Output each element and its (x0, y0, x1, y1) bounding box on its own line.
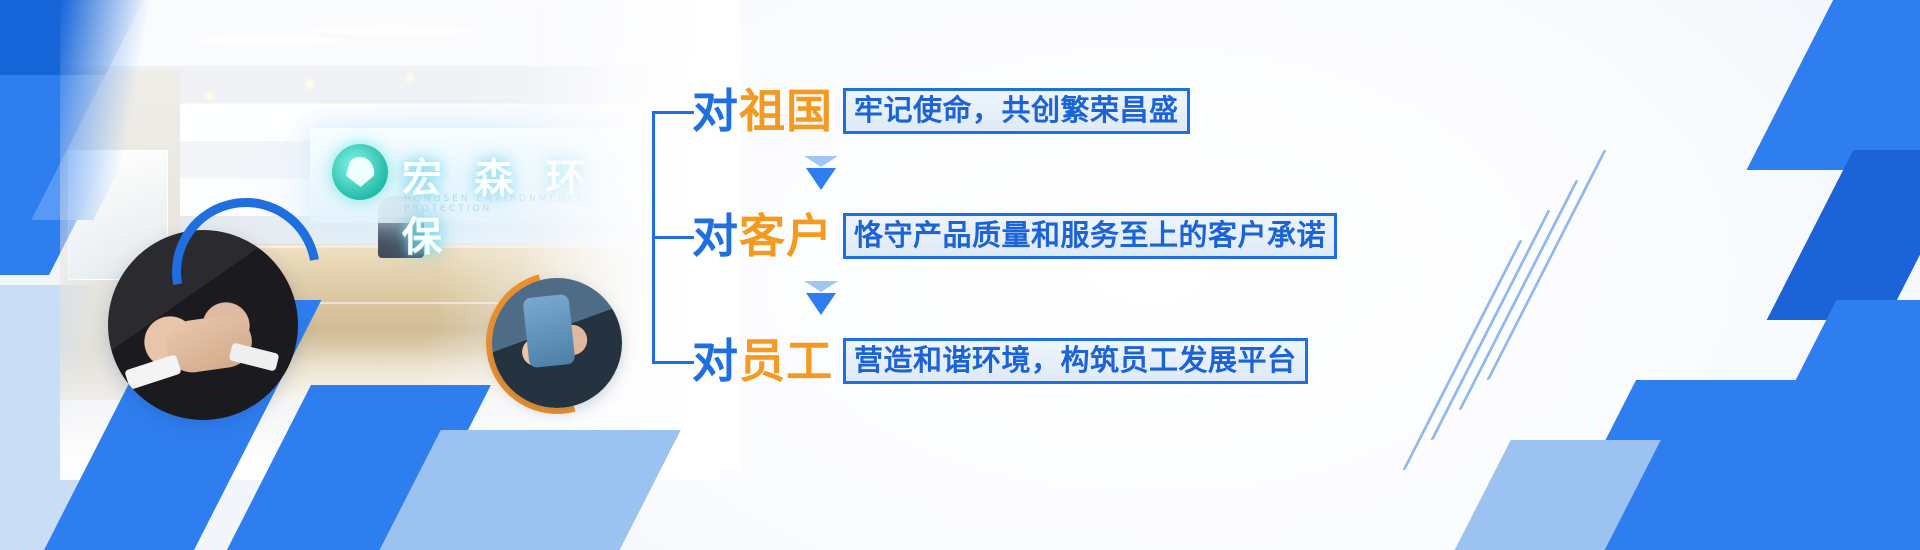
value-row-country: 对祖国 牢记使命，共创繁荣昌盛 (692, 83, 1190, 139)
decor-line-right-1 (1486, 150, 1606, 380)
arrow-bottom-triangle (806, 168, 836, 190)
decor-shape-right-2 (1767, 150, 1920, 320)
value-lead-employee: 对员工 (692, 338, 833, 384)
company-logo-icon (332, 144, 388, 200)
arrow-bottom-triangle (806, 293, 836, 315)
handshake-cuff-left (124, 354, 182, 390)
arrow-top-triangle (804, 156, 838, 167)
applause-person-shirt (522, 294, 575, 368)
decor-line-right-3 (1430, 210, 1550, 440)
value-lead-prefix: 对 (692, 84, 739, 138)
value-lead-customer: 对客户 (692, 213, 833, 259)
values-list: 对祖国 牢记使命，共创繁荣昌盛 对客户 恪守产品质量和服务至上的客户承诺 对员工… (652, 78, 1372, 388)
bracket-connector-2 (652, 236, 694, 239)
value-row-customer: 对客户 恪守产品质量和服务至上的客户承诺 (692, 208, 1337, 264)
applause-photo-content (492, 278, 622, 408)
value-lead-country: 对祖国 (692, 88, 833, 134)
value-lead-subject: 祖国 (739, 84, 833, 138)
value-statement-employee: 营造和谐环境，构筑员工发展平台 (843, 338, 1308, 384)
value-lead-subject: 客户 (739, 209, 833, 263)
decor-line-right-4 (1402, 240, 1522, 470)
bracket-connector-3 (652, 361, 694, 364)
value-lead-prefix: 对 (692, 209, 739, 263)
applause-circle-photo (492, 278, 622, 408)
decor-shape-right-1 (1746, 0, 1920, 170)
arrow-top-triangle (804, 281, 838, 292)
decor-line-right-2 (1458, 180, 1578, 410)
bracket-connector-1 (652, 111, 694, 114)
value-lead-prefix: 对 (692, 334, 739, 388)
handshake-cuff-right (229, 342, 280, 371)
company-values-banner: 宏 森 环 保 HONGSEN ENVIRONMENTAL PROTECTION (0, 0, 1920, 550)
value-row-employee: 对员工 营造和谐环境，构筑员工发展平台 (692, 333, 1308, 389)
value-lead-subject: 员工 (739, 334, 833, 388)
value-statement-customer: 恪守产品质量和服务至上的客户承诺 (843, 213, 1337, 259)
value-statement-country: 牢记使命，共创繁荣昌盛 (843, 88, 1190, 134)
